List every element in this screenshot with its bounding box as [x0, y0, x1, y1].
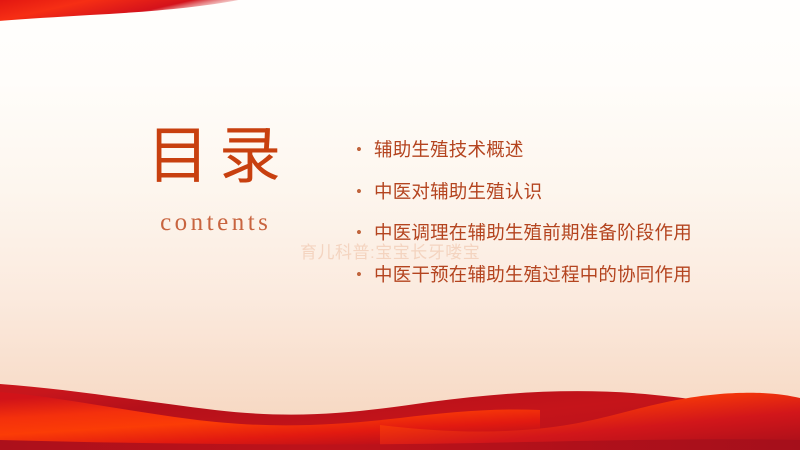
list-item-label: 中医对辅助生殖认识: [374, 183, 542, 203]
bullet-icon: •: [356, 178, 362, 206]
bullet-icon: •: [356, 136, 362, 164]
list-item-label: 中医干预在辅助生殖过程中的协同作用: [374, 266, 692, 286]
bullet-icon: •: [356, 261, 362, 289]
heading-block: 目录 contents: [104, 126, 324, 237]
list-item[interactable]: • 中医调理在辅助生殖前期准备阶段作用: [352, 219, 724, 250]
list-item[interactable]: • 中医对辅助生殖认识: [352, 178, 724, 209]
page-title: 目录: [104, 126, 324, 189]
list-item-label: 辅助生殖技术概述: [374, 141, 524, 161]
table-of-contents-list: • 辅助生殖技术概述 • 中医对辅助生殖认识 • 中医调理在辅助生殖前期准备阶段…: [352, 136, 724, 292]
top-red-ribbon-decoration: [0, 0, 288, 24]
list-item[interactable]: • 中医干预在辅助生殖过程中的协同作用: [352, 261, 724, 292]
list-item[interactable]: • 辅助生殖技术概述: [352, 136, 724, 167]
list-item-label: 中医调理在辅助生殖前期准备阶段作用: [374, 224, 692, 244]
page-subtitle: contents: [104, 209, 324, 237]
bullet-icon: •: [356, 219, 362, 247]
presentation-slide: 目录 contents 育儿科普:宝宝长牙喽宝 • 辅助生殖技术概述 • 中医对…: [0, 0, 800, 450]
bottom-red-wave-decoration: [0, 370, 800, 450]
